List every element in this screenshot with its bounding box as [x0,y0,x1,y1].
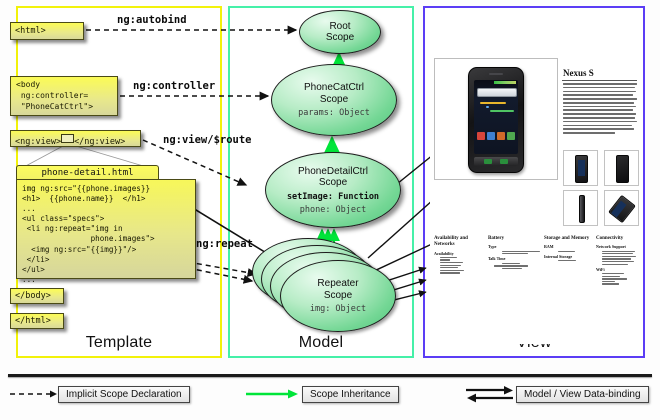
scope-phonecatctrl-line2: Scope [320,94,348,106]
thumbnail-1[interactable] [563,150,598,186]
phone-nav-button-1 [484,159,492,164]
thumbnail-phone-angled [608,195,636,223]
diagram-canvas: Template Model View [0,0,660,420]
phone-wallpaper-stripe-2 [490,110,514,112]
spec-heading-connectivity: Connectivity [596,236,640,242]
spec-heading-storage: Storage and Memory [544,236,594,242]
spec-sub-network-support: Network Support [596,244,640,249]
view-rendered-page: Nexus S Availability and Networks Ava [430,14,638,344]
spec-sub-wifi: WiFi [596,267,640,272]
phone-statusbar [494,81,516,84]
phone-detail-callout: phone-detail.html img ng:src="{{phone.im… [16,165,196,280]
spec-sub-availability: Availability [434,251,480,256]
app-icon-1 [477,132,485,140]
phone-app-dock [477,132,515,144]
edge-label-repeat: ng:repeat [196,238,253,250]
thumbnail-phone-front [575,155,588,183]
scope-repeater-line1: Repeater [317,278,358,290]
product-title-rule [562,80,637,81]
ngview-slot-icon [61,134,74,143]
phone-wallpaper-stripe-1 [480,102,506,104]
scope-phonedetailctrl-line2: Scope [319,177,347,189]
legend-green-arrow-icon [246,390,298,399]
legend-item-scope-inheritance: Scope Inheritance [302,386,399,403]
spec-sub-internal-storage: Internal Storage [544,254,594,259]
phone-searchbar [477,88,517,97]
phone-detail-code: img ng:src="{{phone.images}} <h1> {{phon… [16,179,196,279]
legend-dashed-arrow-icon [10,391,57,398]
phone-wallpaper-stripe-3 [486,106,489,108]
spec-heading-battery: Battery [488,236,534,242]
app-icon-4 [507,132,515,140]
code-box-ngview: <ng:view></ng:view> [10,130,141,147]
spec-table: Availability and Networks Availability B… [434,236,634,306]
legend-item-implicit-scope: Implicit Scope Declaration [58,386,190,403]
phone-screen [474,80,518,154]
thumbnail-2[interactable] [604,150,639,186]
phone-earpiece [489,73,503,75]
scope-root-line1: Root [329,21,350,33]
app-icon-2 [487,132,495,140]
legend-double-arrow-icon [466,386,513,402]
scope-phonecatctrl-line1: PhoneCatCtrl [304,82,364,94]
scope-root: Root Scope [299,10,381,54]
spec-sub-battery-type: Type [488,244,534,249]
spec-column-storage: Storage and Memory RAM Internal Storage [544,236,594,263]
scope-phonecatctrl: PhoneCatCtrl Scope params: Object [271,64,397,136]
spec-sub-ram: RAM [544,244,594,249]
scope-phonedetailctrl-line1: PhoneDetailCtrl [298,166,368,178]
scope-phonedetailctrl-prop-setimage: setImage: Function [287,192,379,202]
thumbnail-phone-edge [579,195,585,223]
code-box-html-open: <html> [10,22,84,40]
scope-repeater-line2: Scope [324,290,352,302]
scope-phonecatctrl-prop-params: params: Object [298,108,370,118]
panel-template-label: Template [18,334,220,352]
thumbnail-3[interactable] [563,190,598,226]
phone-hero-image [468,67,524,173]
scope-phonedetailctrl: PhoneDetailCtrl Scope setImage: Function… [265,152,401,228]
phone-bottom-bar [474,157,518,166]
code-box-body-open: <body ng:controller= "PhoneCatCtrl"> [10,76,118,116]
product-title: Nexus S [563,68,594,78]
edge-label-autobind: ng:autobind [117,14,187,26]
legend-item-data-binding: Model / View Data-binding [516,386,649,403]
scope-root-line2: Scope [326,32,354,44]
scope-repeater: Repeater Scope img: Object [280,260,396,332]
spec-column-availability: Availability and Networks Availability [434,236,480,275]
thumbnail-phone-back [616,155,629,183]
legend-divider [8,374,652,377]
scope-phonedetailctrl-prop-phone: phone: Object [300,205,367,215]
ngview-open-tag: <ng:view> [15,137,61,147]
edge-label-route: ng:view/$route [163,134,252,146]
app-icon-3 [497,132,505,140]
edge-label-controller: ng:controller [133,80,215,92]
scope-repeater-prop-img: img: Object [310,304,366,314]
code-box-html-close: </html> [10,313,64,329]
product-description [563,83,637,145]
spec-sub-battery-talktime: Talk Time [488,256,534,261]
spec-column-connectivity: Connectivity Network Support WiFi [596,236,640,286]
spec-heading-availability: Availability and Networks [434,236,480,249]
hero-image-frame [434,58,558,180]
ngview-close-tag: </ng:view> [74,137,125,147]
code-box-body-close: </body> [10,288,64,304]
phone-detail-filename: phone-detail.html [16,165,159,180]
thumbnail-4[interactable] [604,190,639,226]
phone-nav-button-2 [500,159,508,164]
scope-repeater-stack: Repeater Scope img: Object [252,238,402,338]
spec-column-battery: Battery Type Talk Time [488,236,534,271]
